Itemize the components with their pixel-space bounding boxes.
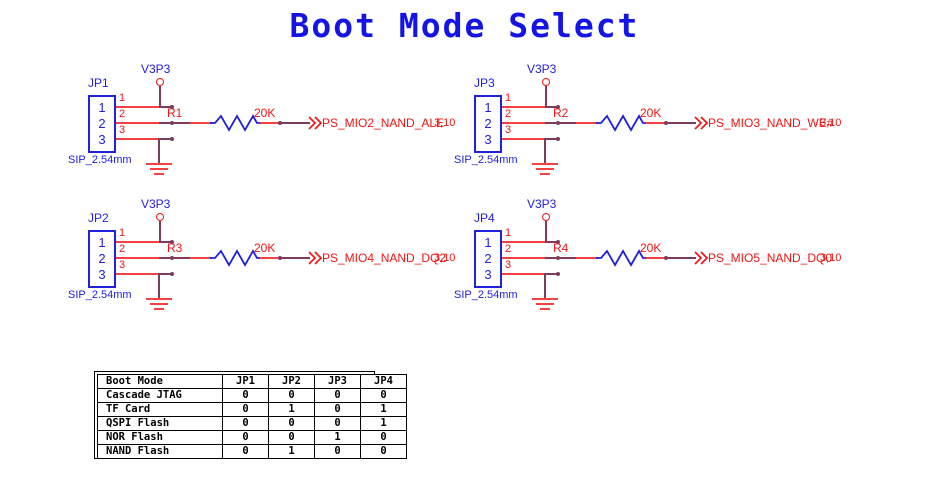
- table-row: TF Card0101: [98, 403, 407, 417]
- resistor-value-label: 20K: [640, 241, 661, 255]
- circuit-block: JP4123123SIP_2.54mmV3P3R420KPS_MIO5_NAND…: [448, 197, 868, 332]
- ground-bar-3: [154, 308, 164, 310]
- power-rail-wire: [545, 221, 547, 242]
- ground-bar-2: [536, 303, 554, 305]
- resistor-ref-designator: R4: [553, 241, 568, 255]
- net-output-wire: [280, 122, 310, 124]
- connector-pin-number-inner: 3: [479, 133, 497, 146]
- resistor-value-label: 20K: [254, 241, 275, 255]
- resistor-lead-left: [576, 122, 598, 124]
- connector-pin-number-inner: 2: [93, 117, 111, 130]
- ground-bar-1: [146, 163, 172, 165]
- resistor-lead-left: [190, 257, 212, 259]
- power-port-icon[interactable]: [542, 78, 550, 86]
- jumper-value-cell: 0: [269, 431, 315, 445]
- connector-pin-number-outer: 1: [119, 228, 125, 239]
- power-port-label: V3P3: [527, 62, 556, 76]
- connector-pin-number-inner: 3: [93, 133, 111, 146]
- jumper-value-cell: 0: [269, 417, 315, 431]
- table-row: QSPI Flash0001: [98, 417, 407, 431]
- net-label-name[interactable]: PS_MIO5_NAND_DQ0: [708, 251, 832, 265]
- resistor-value-label: 20K: [640, 106, 661, 120]
- power-rail-wire: [545, 86, 547, 107]
- jumper-value-cell: 0: [361, 431, 407, 445]
- resistor-ref-designator: R2: [553, 106, 568, 120]
- circuit-block: JP1123123SIP_2.54mmV3P3R120KPS_MIO2_NAND…: [62, 62, 482, 197]
- ground-stem-wire: [158, 273, 160, 299]
- ground-bar-3: [540, 173, 550, 175]
- ground-bar-3: [540, 308, 550, 310]
- connector-pin-number-inner: 3: [479, 268, 497, 281]
- resistor-lead-left: [576, 257, 598, 259]
- table-row: NAND Flash0100: [98, 445, 407, 459]
- connector-pin-number-inner: 1: [479, 101, 497, 114]
- ground-bar-1: [146, 298, 172, 300]
- table-header-cell: JP3: [315, 375, 361, 389]
- connector-footprint-label: SIP_2.54mm: [454, 289, 518, 301]
- boot-mode-table: Boot Mode JP1 JP2 JP3 JP4 Cascade JTAG00…: [97, 374, 407, 459]
- power-port-icon[interactable]: [156, 78, 164, 86]
- boot-mode-name-cell: QSPI Flash: [98, 417, 223, 431]
- connector-pin-number-inner: 1: [93, 236, 111, 249]
- jumper-value-cell: 0: [315, 403, 361, 417]
- ground-bar-2: [150, 168, 168, 170]
- connector-pin-number-outer: 3: [119, 125, 125, 136]
- pin3-net-wire: [159, 138, 173, 140]
- connector-pin-number-outer: 2: [119, 244, 125, 255]
- jumper-value-cell: 1: [269, 403, 315, 417]
- connector-ref-designator: JP2: [88, 211, 109, 225]
- jumper-value-cell: 0: [223, 389, 269, 403]
- ground-bar-1: [532, 163, 558, 165]
- boot-mode-name-cell: NAND Flash: [98, 445, 223, 459]
- ground-stem-wire: [158, 138, 160, 164]
- pin3-net-wire: [545, 138, 559, 140]
- jumper-value-cell: 1: [361, 417, 407, 431]
- connector-pin-number-inner: 3: [93, 268, 111, 281]
- ground-bar-3: [154, 173, 164, 175]
- net-output-wire: [280, 257, 310, 259]
- connector-pin-number-inner: 1: [479, 236, 497, 249]
- table-header-cell: JP1: [223, 375, 269, 389]
- jumper-value-cell: 0: [223, 445, 269, 459]
- net-output-wire: [666, 257, 696, 259]
- net-label-name[interactable]: PS_MIO4_NAND_DQ2: [322, 251, 446, 265]
- ground-bar-1: [532, 298, 558, 300]
- connector-pin-number-inner: 1: [93, 101, 111, 114]
- table-body: Cascade JTAG0000TF Card0101QSPI Flash000…: [98, 389, 407, 459]
- pin3-net-wire: [159, 273, 173, 275]
- jumper-value-cell: 1: [361, 403, 407, 417]
- table-header-cell: JP4: [361, 375, 407, 389]
- net-page-reference: 3,10: [820, 252, 841, 264]
- connector-pin-number-outer: 1: [119, 93, 125, 104]
- jumper-value-cell: 0: [315, 389, 361, 403]
- connector-footprint-label: SIP_2.54mm: [68, 154, 132, 166]
- connector-pin-number-outer: 3: [119, 260, 125, 271]
- connector-footprint-label: SIP_2.54mm: [454, 154, 518, 166]
- net-page-reference: 3,10: [820, 117, 841, 129]
- connector-pin-number-outer: 1: [505, 93, 511, 104]
- jumper-value-cell: 0: [361, 445, 407, 459]
- page-title: Boot Mode Select: [0, 6, 929, 45]
- pin3-net-wire: [545, 273, 559, 275]
- power-port-label: V3P3: [527, 197, 556, 211]
- circuit-block: JP3123123SIP_2.54mmV3P3R220KPS_MIO3_NAND…: [448, 62, 868, 197]
- connector-footprint-label: SIP_2.54mm: [68, 289, 132, 301]
- resistor-lead-left: [190, 122, 212, 124]
- table-header-cell: JP2: [269, 375, 315, 389]
- table-header-cell: Boot Mode: [98, 375, 223, 389]
- connector-pin-number-outer: 1: [505, 228, 511, 239]
- circuit-block: JP2123123SIP_2.54mmV3P3R320KPS_MIO4_NAND…: [62, 197, 482, 332]
- ground-bar-2: [150, 303, 168, 305]
- connector-pin-number-inner: 2: [479, 117, 497, 130]
- ground-bar-2: [536, 168, 554, 170]
- table-row: NOR Flash0010: [98, 431, 407, 445]
- schematic-sheet: Boot Mode Select JP1123123SIP_2.54mmV3P3…: [0, 0, 929, 487]
- power-port-icon[interactable]: [542, 213, 550, 221]
- resistor-ref-designator: R1: [167, 106, 182, 120]
- boot-mode-name-cell: NOR Flash: [98, 431, 223, 445]
- table-row: Cascade JTAG0000: [98, 389, 407, 403]
- ground-stem-wire: [544, 138, 546, 164]
- jumper-value-cell: 0: [223, 403, 269, 417]
- power-rail-wire: [159, 86, 161, 107]
- connector-pin-number-outer: 2: [505, 244, 511, 255]
- net-label-name[interactable]: PS_MIO3_NAND_WE#: [708, 116, 833, 130]
- jumper-value-cell: 1: [315, 431, 361, 445]
- jumper-value-cell: 0: [223, 431, 269, 445]
- power-port-label: V3P3: [141, 62, 170, 76]
- net-label-name[interactable]: PS_MIO2_NAND_ALE: [322, 116, 444, 130]
- ground-stem-wire: [544, 273, 546, 299]
- connector-ref-designator: JP4: [474, 211, 495, 225]
- jumper-value-cell: 0: [269, 389, 315, 403]
- connector-pin-number-inner: 2: [479, 252, 497, 265]
- jumper-value-cell: 0: [361, 389, 407, 403]
- connector-ref-designator: JP1: [88, 76, 109, 90]
- power-rail-wire: [159, 221, 161, 242]
- power-port-icon[interactable]: [156, 213, 164, 221]
- jumper-value-cell: 1: [269, 445, 315, 459]
- connector-pin-number-inner: 2: [93, 252, 111, 265]
- jumper-value-cell: 0: [315, 445, 361, 459]
- resistor-ref-designator: R3: [167, 241, 182, 255]
- resistor-value-label: 20K: [254, 106, 275, 120]
- table-header-row: Boot Mode JP1 JP2 JP3 JP4: [98, 375, 407, 389]
- connector-ref-designator: JP3: [474, 76, 495, 90]
- jumper-value-cell: 0: [223, 417, 269, 431]
- net-output-wire: [666, 122, 696, 124]
- power-port-label: V3P3: [141, 197, 170, 211]
- jumper-value-cell: 0: [315, 417, 361, 431]
- connector-pin-number-outer: 2: [119, 109, 125, 120]
- connector-pin-number-outer: 3: [505, 125, 511, 136]
- connector-pin-number-outer: 2: [505, 109, 511, 120]
- boot-mode-name-cell: Cascade JTAG: [98, 389, 223, 403]
- boot-mode-name-cell: TF Card: [98, 403, 223, 417]
- connector-pin-number-outer: 3: [505, 260, 511, 271]
